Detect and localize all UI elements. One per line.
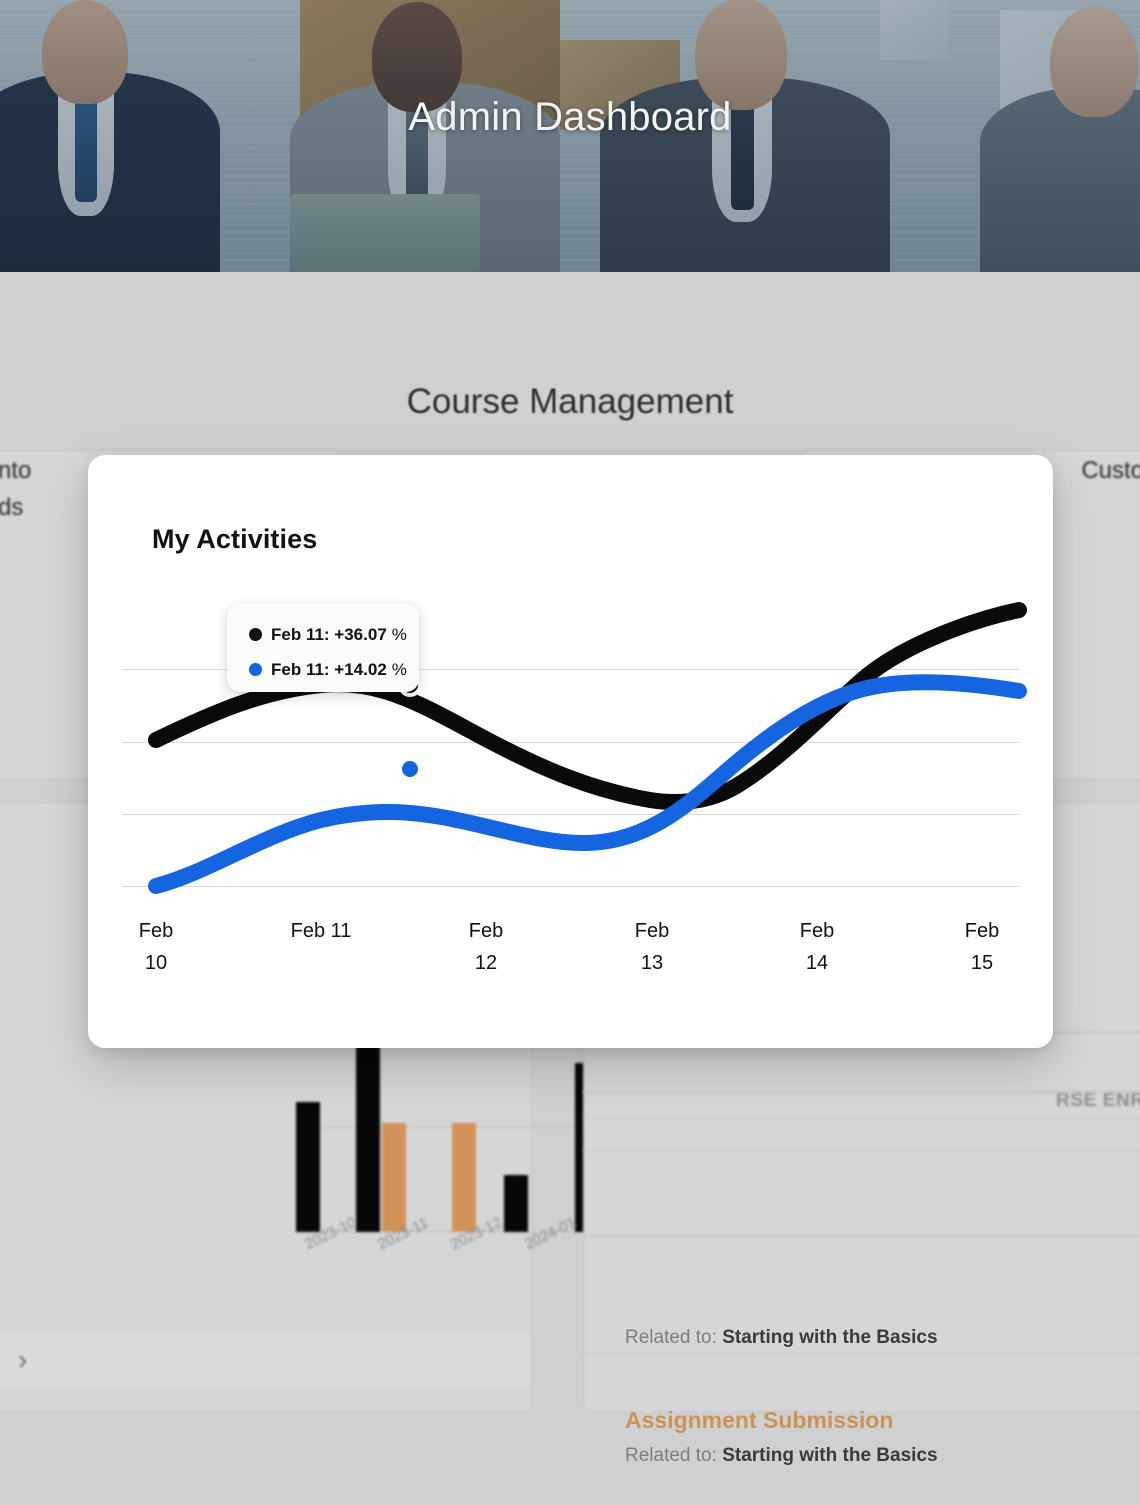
x-tick-line1: Feb xyxy=(965,920,999,942)
tooltip-row-label: Feb 11: +14.02 xyxy=(271,660,387,680)
bar-item[interactable] xyxy=(504,1175,528,1232)
top-card-right-text: Customw xyxy=(1044,452,1140,526)
list-item[interactable] xyxy=(583,1235,1140,1351)
x-tick-line2: 12 xyxy=(475,952,497,974)
x-tick-line2: 15 xyxy=(971,952,993,974)
page-title: Admin Dashboard xyxy=(0,95,1140,140)
tooltip-row-unit: % xyxy=(392,625,407,645)
x-tick-line1: Feb xyxy=(469,920,503,942)
chart-x-axis: Feb 10 Feb 11 Feb 12 Feb 13 Feb 14 Feb 1… xyxy=(122,915,1019,1005)
related-value: Starting with the Basics xyxy=(722,1445,937,1466)
chart-tooltip: Feb 11: +36.07 % Feb 11: +14.02 % xyxy=(227,603,419,692)
series-1-legend-dot xyxy=(249,628,262,641)
x-tick-line1: Feb xyxy=(139,920,173,942)
tooltip-row-unit: % xyxy=(392,660,407,680)
bar-item[interactable] xyxy=(296,1102,320,1232)
pager-bar xyxy=(0,1330,532,1390)
tooltip-row: Feb 11: +14.02 % xyxy=(249,652,419,687)
top-card-left-text: ntods xyxy=(0,452,31,526)
x-tick-label: Feb 11 xyxy=(261,915,381,947)
x-tick-label: Feb 14 xyxy=(757,915,877,980)
x-tick-line1: Feb xyxy=(635,920,669,942)
chevron-right-icon[interactable]: › xyxy=(18,1344,27,1376)
section-title: Course Management xyxy=(0,382,1140,422)
x-tick-line2: 10 xyxy=(145,952,167,974)
x-tick-line2: 13 xyxy=(641,952,663,974)
list-item[interactable] xyxy=(583,1353,1140,1412)
hero-banner: Admin Dashboard xyxy=(0,0,1140,272)
list-item[interactable] xyxy=(583,1117,1140,1233)
x-tick-label: Feb 15 xyxy=(922,915,1042,980)
x-tick-line2: 14 xyxy=(806,952,828,974)
x-tick-line1: Feb 11 xyxy=(291,920,352,942)
list-item-related: Related to: Starting with the Basics xyxy=(625,1445,938,1467)
bar-item[interactable] xyxy=(452,1123,476,1232)
tooltip-row: Feb 11: +36.07 % xyxy=(249,617,419,652)
x-tick-label: Feb 10 xyxy=(96,915,216,980)
x-tick-label: Feb 12 xyxy=(426,915,546,980)
x-tick-label: Feb 13 xyxy=(592,915,712,980)
modal-title: My Activities xyxy=(152,524,317,555)
list-item-divider xyxy=(583,1092,1140,1093)
bar-item[interactable] xyxy=(382,1123,406,1232)
series-2-legend-dot xyxy=(249,663,262,676)
tooltip-row-label: Feb 11: +36.07 xyxy=(271,625,387,645)
x-tick-line1: Feb xyxy=(800,920,834,942)
related-label: Related to: xyxy=(625,1445,717,1466)
series-2-marker-dot xyxy=(402,761,418,777)
my-activities-modal[interactable]: My Activities Feb 10 Feb 11 xyxy=(88,455,1053,1048)
